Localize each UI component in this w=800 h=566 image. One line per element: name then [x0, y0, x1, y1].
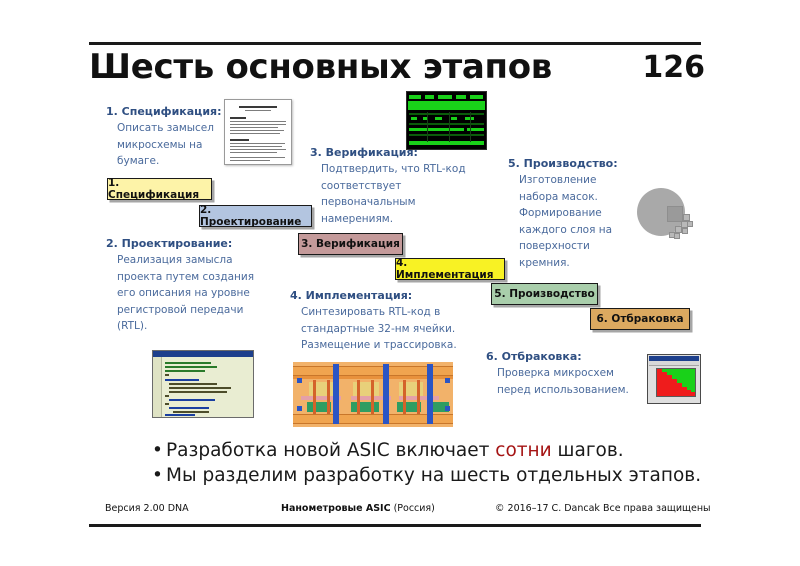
description-line: Размещение и трассировка.: [301, 337, 490, 354]
bullet-text-post: шагов.: [552, 440, 624, 461]
yield-chart-thumbnail: [647, 354, 701, 404]
step-box-label: 3. Верификация: [301, 238, 400, 250]
bullet-item: •Разработка новой ASIC включает сотни ша…: [152, 438, 712, 463]
description-line: Формирование: [519, 205, 628, 222]
description-heading: 2. Проектирование:: [106, 236, 281, 252]
description-line: перед использованием.: [497, 382, 646, 399]
description-line: Описать замысел: [117, 120, 256, 137]
description-line: Подтвердить, что RTL-код: [321, 161, 500, 178]
description-heading: 6. Отбраковка:: [486, 349, 646, 365]
description-line: каждого слоя на: [519, 222, 628, 239]
bullet-marker: •: [152, 438, 166, 463]
step-box-label: 1. Спецификация: [108, 177, 211, 201]
footer-divider: [89, 524, 701, 527]
step-box-2[interactable]: 2. Проектирование: [199, 205, 312, 227]
description-line: его описания на уровне: [117, 285, 281, 302]
description-block-5: 5. Производство: Изготовление набора мас…: [508, 156, 628, 271]
bullet-item: •Мы разделим разработку на шесть отдельн…: [152, 463, 712, 488]
description-line: первоначальным: [321, 194, 500, 211]
description-heading: 3. Верификация:: [310, 145, 500, 161]
description-line: бумаге.: [117, 153, 256, 170]
step-box-6[interactable]: 6. Отбраковка: [590, 308, 690, 330]
description-heading: 4. Имплементация:: [290, 288, 490, 304]
step-box-1[interactable]: 1. Спецификация: [107, 178, 212, 200]
description-line: поверхности: [519, 238, 628, 255]
slide-canvas: Шесть основных этапов 126: [0, 0, 800, 566]
description-line: (RTL).: [117, 318, 281, 335]
description-line: Проверка микросхем: [497, 365, 646, 382]
bullet-list: •Разработка новой ASIC включает сотни ша…: [152, 438, 712, 488]
bullet-highlight: сотни: [495, 440, 551, 461]
description-line: Синтезировать RTL-код в: [301, 304, 490, 321]
chip-layout-thumbnail: [293, 362, 453, 427]
footer: Версия 2.00 DNA Нанометровые ASIC (Росси…: [89, 503, 701, 521]
bullet-text-pre: Мы разделим разработку на шесть отдельны…: [166, 465, 701, 486]
silicon-wafer-thumbnail: [637, 188, 699, 246]
step-box-label: 5. Производство: [494, 288, 594, 300]
description-block-3: 3. Верификация: Подтвердить, что RTL-код…: [310, 145, 500, 227]
bullet-text-pre: Разработка новой ASIC включает: [166, 440, 495, 461]
description-line: Изготовление: [519, 172, 628, 189]
page-title: Шесть основных этапов: [89, 47, 552, 87]
description-line: Реализация замысла: [117, 252, 281, 269]
description-block-4: 4. Имплементация: Синтезировать RTL-код …: [290, 288, 490, 354]
description-heading: 5. Производство:: [508, 156, 628, 172]
description-line: микросхемы на: [117, 137, 256, 154]
description-line: стандартные 32-нм ячейки.: [301, 321, 490, 338]
footer-copyright: © 2016–17 C. Dancak Все права защищены: [495, 503, 711, 514]
step-box-4[interactable]: 4. Имплементация: [395, 258, 505, 280]
description-line: проекта путем создания: [117, 269, 281, 286]
description-line: регистровой передачи: [117, 302, 281, 319]
footer-version: Версия 2.00 DNA: [105, 503, 189, 514]
header-divider: [89, 42, 701, 45]
step-box-label: 2. Проектирование: [200, 204, 311, 228]
description-line: кремния.: [519, 255, 628, 272]
waveform-viewer-thumbnail: [406, 91, 487, 150]
description-block-6: 6. Отбраковка: Проверка микросхем перед …: [486, 349, 646, 398]
step-box-3[interactable]: 3. Верификация: [298, 233, 403, 255]
description-line: набора масок.: [519, 189, 628, 206]
description-block-1: 1. Спецификация: Описать замысел микросх…: [106, 104, 256, 170]
description-block-2: 2. Проектирование: Реализация замысла пр…: [106, 236, 281, 335]
footer-course: Нанометровые ASIC (Россия): [281, 503, 435, 514]
footer-course-bold: Нанометровые ASIC: [281, 503, 391, 514]
description-line: намерениям.: [321, 211, 500, 228]
step-box-label: 4. Имплементация: [396, 257, 504, 281]
step-box-label: 6. Отбраковка: [596, 313, 683, 325]
footer-course-rest: (Россия): [391, 503, 435, 514]
step-box-5[interactable]: 5. Производство: [491, 283, 598, 305]
bullet-marker: •: [152, 463, 166, 488]
description-heading: 1. Спецификация:: [106, 104, 256, 120]
page-number: 126: [642, 50, 705, 85]
description-line: соответствует: [321, 178, 500, 195]
rtl-code-editor-thumbnail: [152, 350, 254, 418]
